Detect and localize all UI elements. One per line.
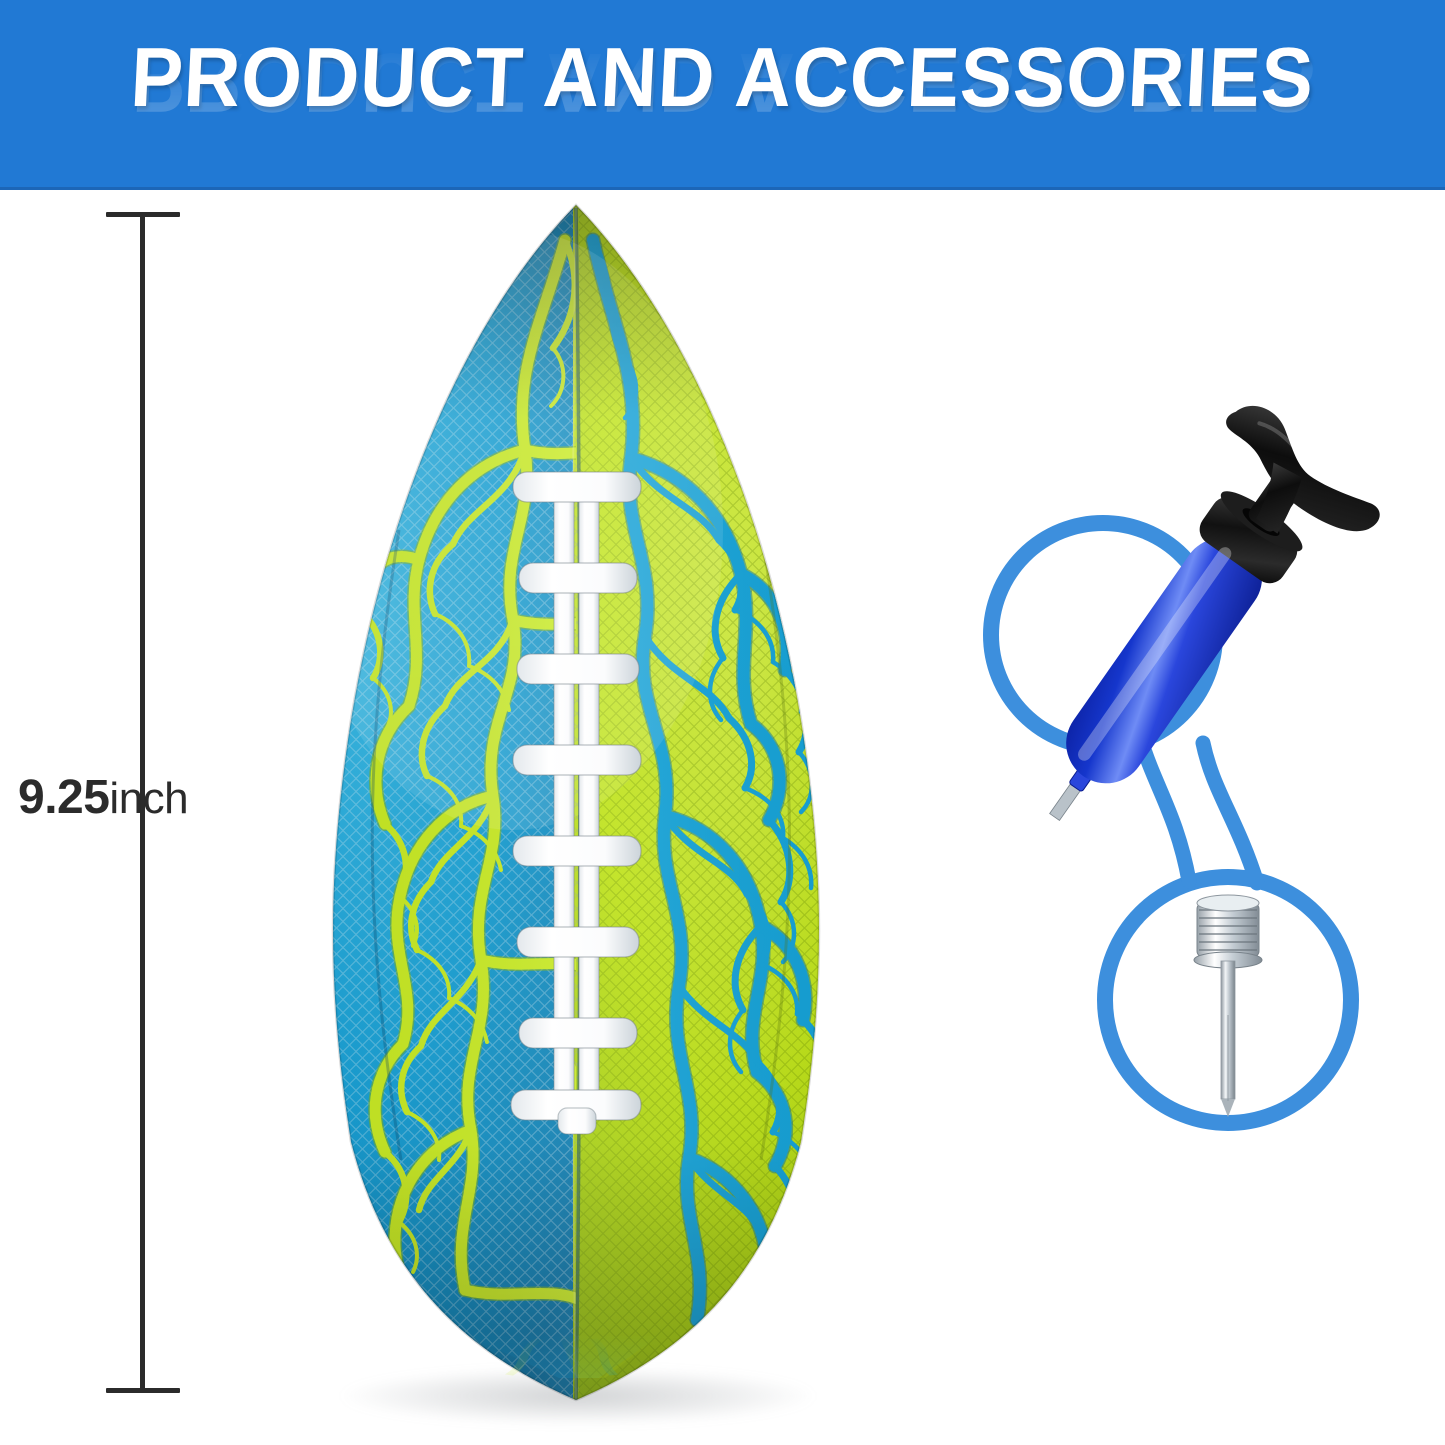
football-illustration [213,200,939,1410]
pump-and-needle-illustration [945,395,1405,1140]
dimension-unit: inch [109,774,188,823]
dimension-value: 9.25 [18,771,109,824]
accessories-group [945,395,1405,1140]
inflation-needle [1194,895,1262,1117]
dimension-cap-bottom [106,1388,180,1393]
product-infographic: PRODUCT AND ACCESSORIES PRODUCT AND ACCE… [0,0,1445,1445]
football-product-image [213,200,939,1410]
ring-connector-right [1203,743,1257,883]
ring-connector-left [1141,740,1189,881]
dimension-label: 9.25inch [18,770,188,825]
hand-pump [983,395,1394,872]
